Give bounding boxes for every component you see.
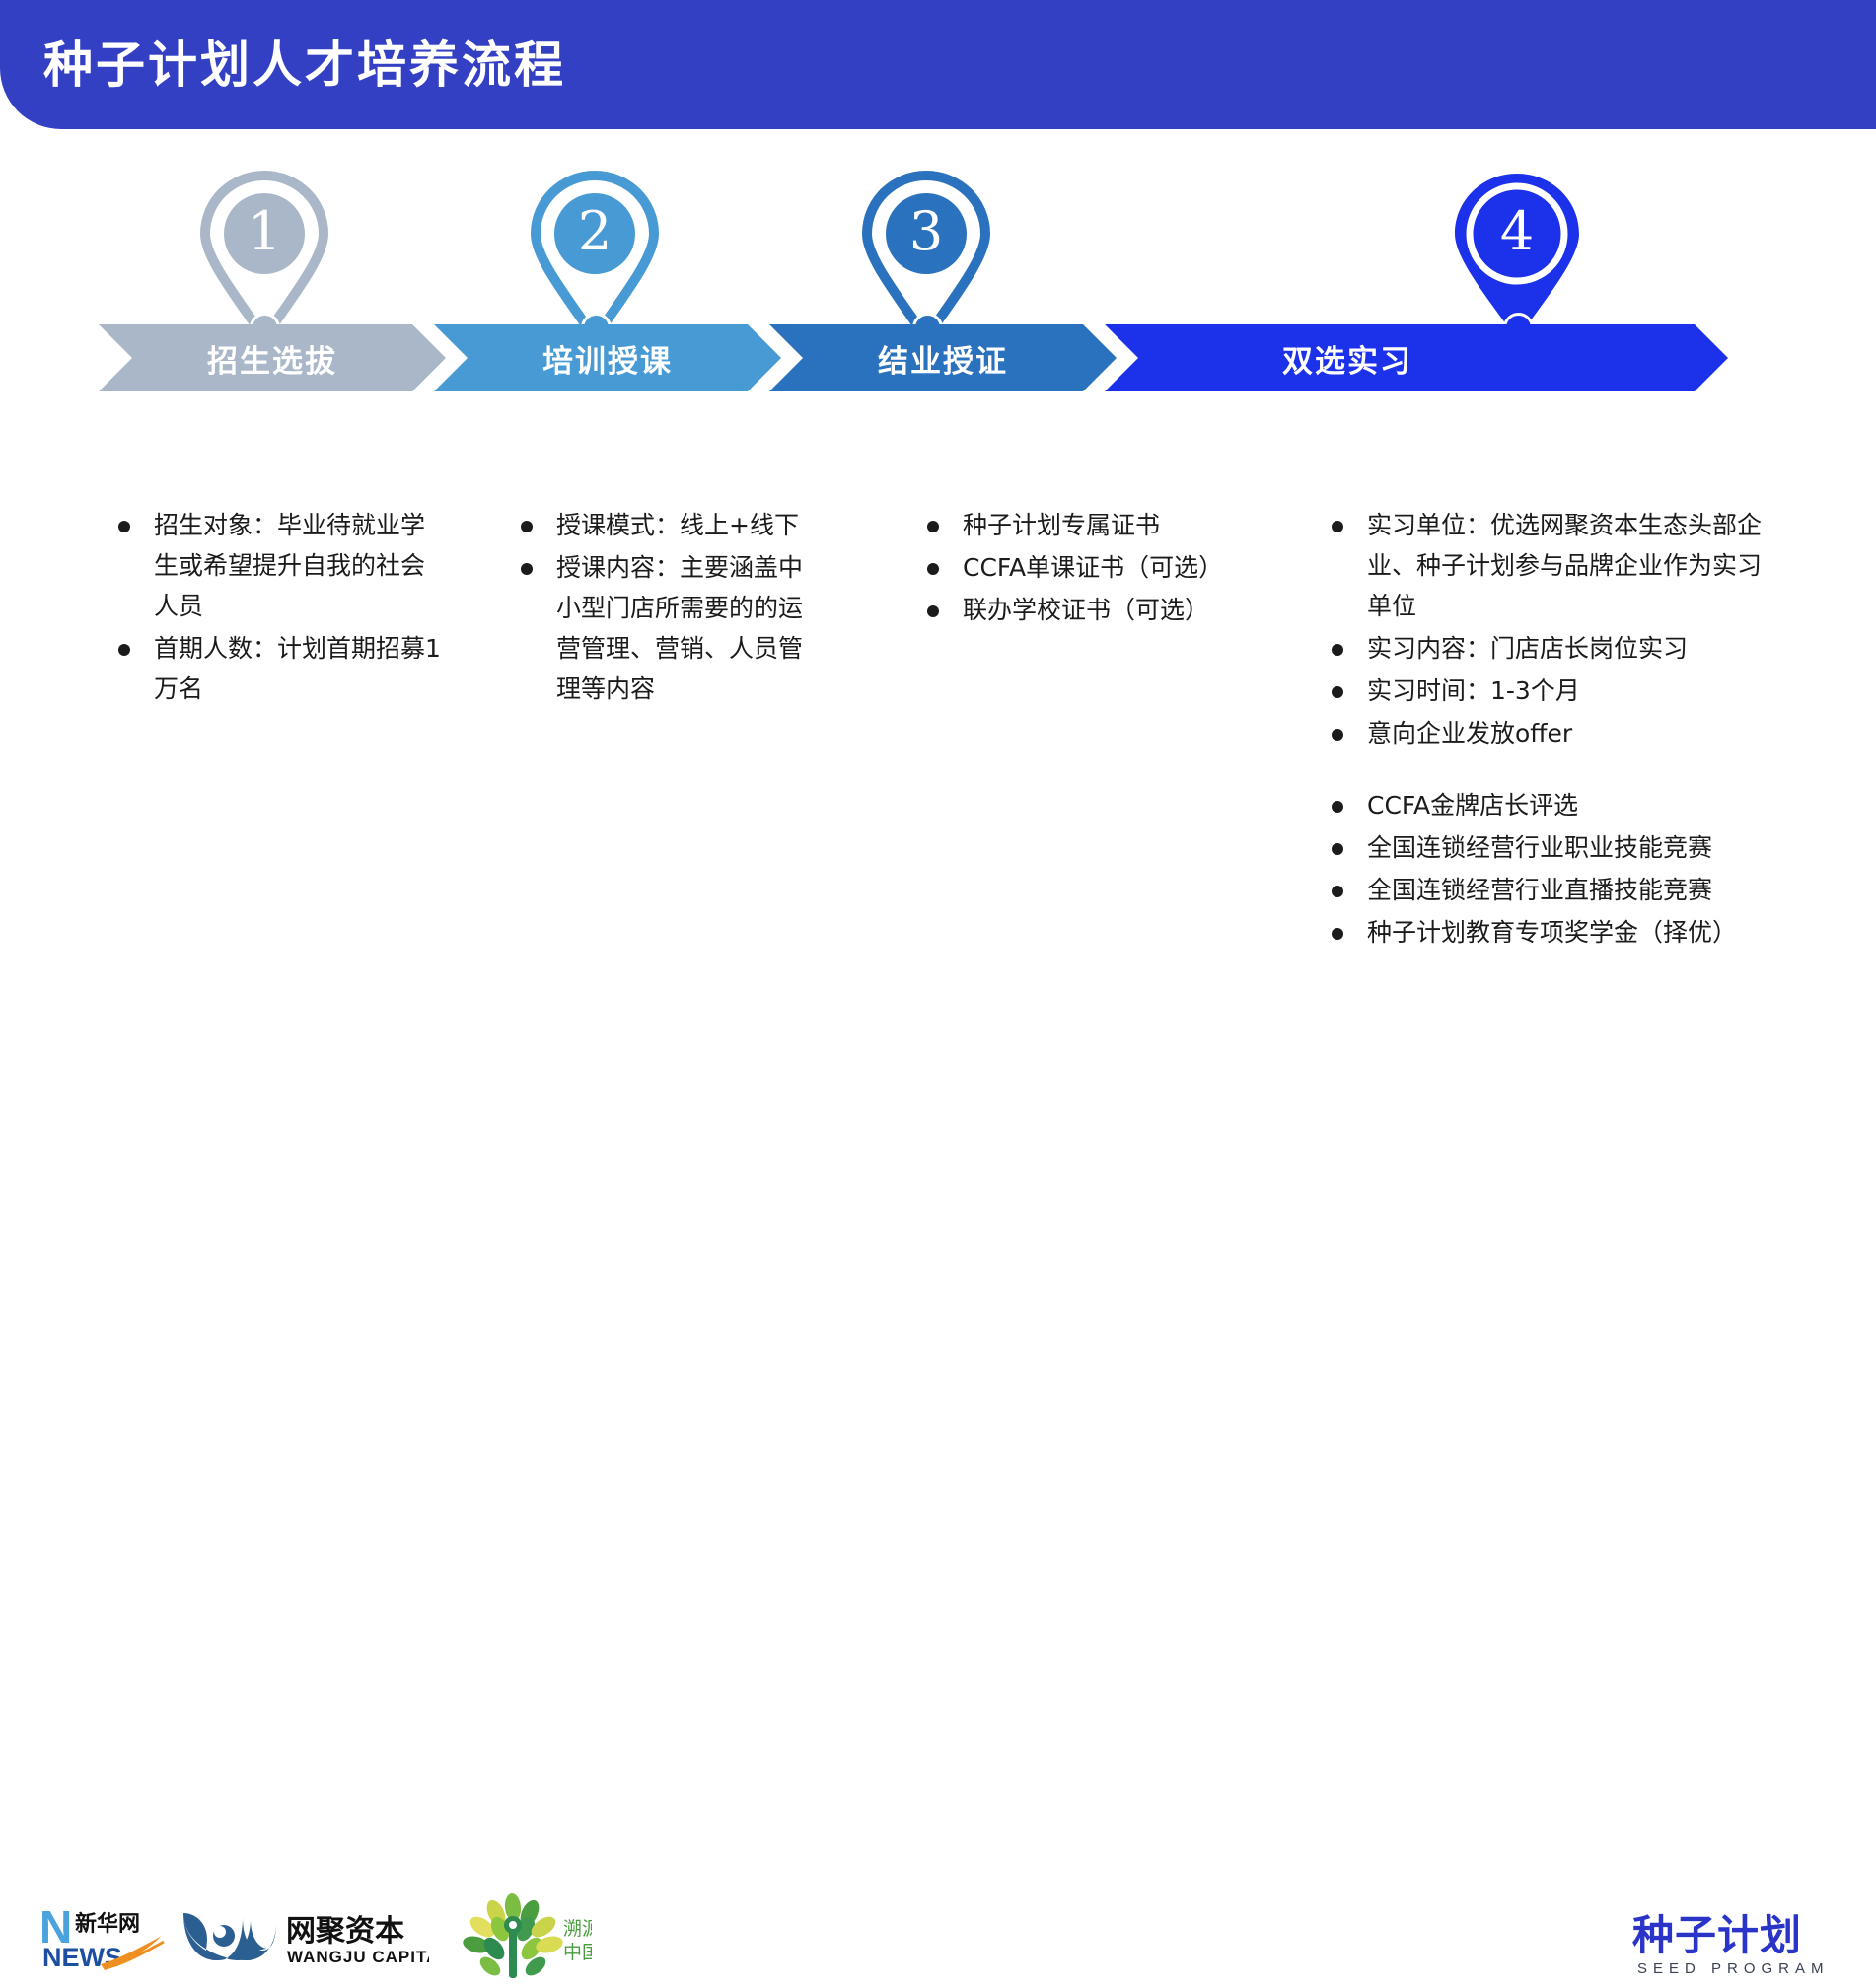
step-label: 招生选拔 [207,336,337,381]
list-item: 招生对象：毕业待就业学生或希望提升自我的社会人员 [108,505,444,626]
logo-wangju-capital: 网聚资本 WANGJU CAPITAL [178,1903,429,1972]
footer: N 新华网 NEWS 网聚资本 WANGJU CAPITAL [0,942,1876,1069]
logo-xinhua-news: N 新华网 NEWS [39,1903,187,1972]
list-item: 全国连锁经营行业直播技能竞赛 [1322,870,1770,910]
details-column-3: 种子计划专属证书 CCFA单课证书（可选） 联办学校证书（可选） [917,505,1263,632]
details-column-1: 招生对象：毕业待就业学生或希望提升自我的社会人员 首期人数：计划首期招募1万名 [108,505,444,711]
page-title: 种子计划人才培养流程 [43,26,566,97]
list-item: 授课内容：主要涵盖中小型门店所需要的的运营管理、营销、人员管理等内容 [511,547,817,709]
process-flow: 1 2 3 4 招生选拔 培训授课 [0,129,1876,455]
leaf-tree [461,1893,564,1979]
list-item: 全国连锁经营行业职业技能竞赛 [1322,827,1770,868]
step-label: 培训授课 [542,336,673,381]
step-label: 双选实习 [1282,336,1412,381]
step-band-3[interactable]: 结业授证 [769,324,1117,391]
list-item: 实习内容：门店店长岗位实习 [1322,628,1770,669]
wangju-cn-text: 网聚资本 [286,1914,404,1949]
spacer [1322,755,1770,785]
step-band-1[interactable]: 招生选拔 [99,324,446,391]
step-number: 1 [200,200,328,262]
seed-en-text: SEED PROGRAM [1637,1960,1830,1977]
suyuan-china-icon: 溯源 中国 [449,1893,592,1982]
details-column-2: 授课模式：线上+线下 授课内容：主要涵盖中小型门店所需要的的运营管理、营销、人员… [511,505,817,711]
chevron-shape [1105,324,1728,391]
list-item: 种子计划专属证书 [917,505,1263,545]
list-item: 实习单位：优选网聚资本生态头部企业、种子计划参与品牌企业作为实习单位 [1322,505,1770,626]
step-band-4[interactable]: 双选实习 [1105,324,1728,391]
list-item: 首期人数：计划首期招募1万名 [108,628,444,709]
list-item: CCFA金牌店长评选 [1322,785,1770,825]
seed-cn-text: 种子计划 [1632,1911,1802,1959]
step-number: 3 [862,200,990,262]
list-item: 授课模式：线上+线下 [511,505,817,545]
list-item: 实习时间：1-3个月 [1322,671,1770,711]
suyuan-cn-line2: 中国 [563,1942,592,1963]
list-item: CCFA单课证书（可选） [917,547,1263,588]
logo-seed-program: 种子计划 SEED PROGRAM [1629,1908,1832,1977]
logo-suyuan-china: 溯源 中国 [449,1893,592,1982]
step-number: 4 [1453,200,1581,262]
bullet-list: 招生对象：毕业待就业学生或希望提升自我的社会人员 首期人数：计划首期招募1万名 [108,505,444,709]
xinhua-news-icon: N 新华网 NEWS [39,1903,187,1972]
bullet-list: 种子计划专属证书 CCFA单课证书（可选） 联办学校证书（可选） [917,505,1263,630]
bullet-list: 授课模式：线上+线下 授课内容：主要涵盖中小型门店所需要的的运营管理、营销、人员… [511,505,817,709]
xinhua-cn-text: 新华网 [75,1911,140,1937]
list-item: 意向企业发放offer [1322,713,1770,753]
wangju-en-text: WANGJU CAPITAL [287,1948,429,1966]
step-number: 2 [531,200,659,262]
step-label: 结业授证 [878,336,1008,381]
suyuan-cn-line1: 溯源 [563,1918,592,1940]
bullet-list-extra: CCFA金牌店长评选 全国连锁经营行业职业技能竞赛 全国连锁经营行业直播技能竞赛… [1322,785,1770,953]
title-banner: 种子计划人才培养流程 [0,0,1876,129]
details-column-4: 实习单位：优选网聚资本生态头部企业、种子计划参与品牌企业作为实习单位 实习内容：… [1322,505,1770,955]
wangju-capital-icon: 网聚资本 WANGJU CAPITAL [178,1903,429,1972]
list-item: 联办学校证书（可选） [917,590,1263,630]
step-band-2[interactable]: 培训授课 [434,324,781,391]
bullet-list: 实习单位：优选网聚资本生态头部企业、种子计划参与品牌企业作为实习单位 实习内容：… [1322,505,1770,753]
seed-program-icon: 种子计划 SEED PROGRAM [1629,1908,1832,1977]
